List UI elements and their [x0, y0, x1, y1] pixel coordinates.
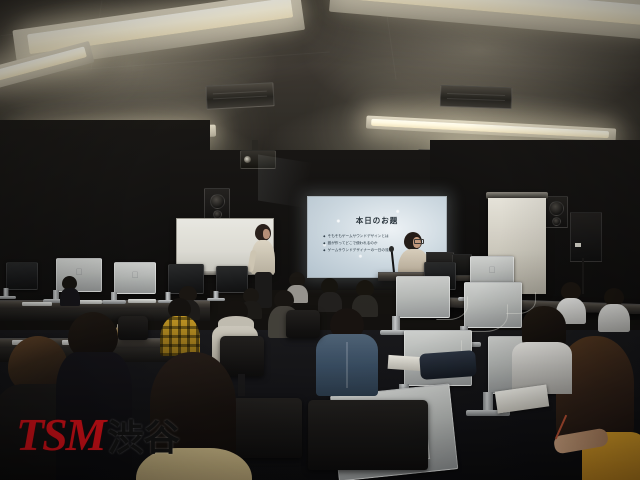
ceiling-projector: [240, 150, 276, 169]
rack-indicator: [575, 243, 581, 247]
office-chair: [286, 310, 320, 338]
imac-stand-neck: [483, 392, 493, 410]
imac-stand-neck: [111, 292, 117, 300]
wall-speaker: [204, 188, 230, 222]
speaker-cone-icon: [549, 201, 564, 216]
person-torso: [316, 334, 378, 396]
speaker-cone-icon: [210, 194, 225, 209]
imac-stand-neck: [4, 288, 9, 296]
person-torso: [160, 316, 200, 356]
bag: [419, 350, 477, 380]
equipment-rack: [570, 212, 602, 262]
imac-stand-neck: [53, 290, 59, 299]
presenter-face: [263, 229, 270, 239]
ceiling-light-fixture: [329, 0, 640, 44]
paper-sheet: [388, 355, 423, 371]
watermark-logo: TSM 渋谷: [16, 414, 180, 456]
denim-jacket-student: [316, 308, 378, 394]
apple-logo-icon: : [132, 271, 139, 280]
slide-title: 本日のお題: [308, 215, 446, 226]
watermark-kanji-text: 渋谷: [108, 422, 180, 456]
glasses-icon: [414, 239, 424, 244]
ceiling-air-vent: [440, 85, 513, 109]
speaker-tweeter-icon: [552, 217, 561, 226]
apple-keyboard: [22, 302, 52, 306]
ceiling-air-vent: [205, 82, 274, 110]
imac-display: : [114, 262, 156, 294]
audience-member: [318, 278, 342, 308]
classroom-photo: 本日のお題 そもそもゲームサウンドデザインとは 誰が作ってどこで使われるのか ゲ…: [0, 0, 640, 480]
white-shirt-student: [598, 288, 630, 328]
imac-stand-foot: [102, 300, 126, 304]
imac-display: [6, 262, 38, 290]
imac-stand-foot: [0, 296, 16, 299]
imac-stand-neck: [214, 291, 219, 298]
office-chair: [308, 400, 428, 470]
watermark-latin-text: TSM: [16, 414, 105, 455]
wall-speaker: [544, 196, 568, 228]
imac-stand-neck: [392, 316, 400, 330]
microphone-icon: [389, 246, 394, 252]
person-torso: [598, 304, 630, 332]
person-torso: [60, 288, 80, 306]
apple-logo-icon: : [489, 266, 496, 275]
projector-lens: [244, 156, 251, 163]
plaid-shirt-student: [160, 298, 200, 352]
audience-member: [512, 306, 572, 386]
jacket-seam: [346, 342, 348, 388]
apple-keyboard: [128, 299, 156, 303]
audience-member: [60, 276, 80, 304]
